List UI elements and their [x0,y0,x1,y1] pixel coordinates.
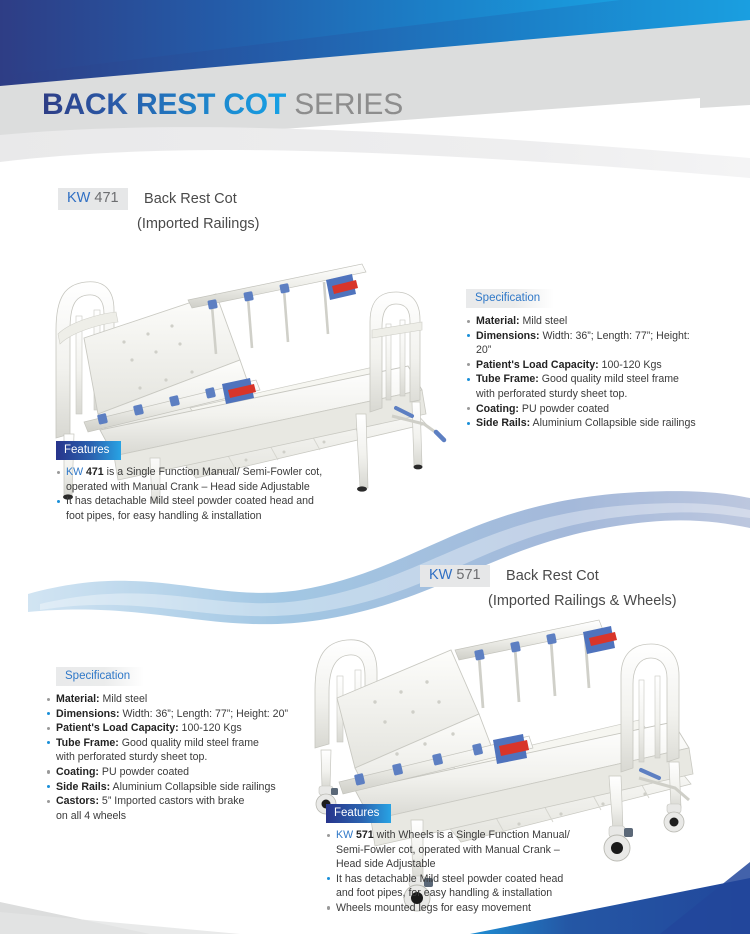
features-badge-kw571: Features [326,804,391,823]
spec-item-continuation: with perforated sturdy sheet top. [466,387,698,402]
product-subtitle-kw571: (Imported Railings & Wheels) [488,593,677,609]
product-name-kw571: Back Rest Cot [506,568,599,584]
page-title-main: BACK REST COT [42,88,286,121]
page-title: BACK REST COT SERIES [42,88,403,122]
product-code-badge-kw571: KW 571 [420,565,490,587]
features-list-kw571: KW 571 with Wheels is a Single Function … [326,828,616,916]
product-code-number: 571 [452,567,480,583]
feature-item-continuation: Head side Adjustable [326,857,616,872]
product-header-kw571: KW 571 Back Rest Cot (Imported Railings … [420,565,677,609]
features-list-kw471: KW 471 is a Single Function Manual/ Semi… [56,465,346,523]
spec-item-continuation: with perforated sturdy sheet top. [46,750,296,765]
rear-side-rail [455,620,617,708]
feature-item: It has detachable Mild steel powder coat… [326,872,616,887]
spec-list-kw471: Material: Mild steel Dimensions: Width: … [466,314,698,431]
feature-item-continuation: foot pipes, for easy handling & installa… [56,509,346,524]
spec-badge-kw471: Specification [466,289,554,308]
catalog-page: BACK REST COT SERIES KW 471 Back Rest Co… [0,0,750,934]
spec-item-continuation: on all 4 wheels [46,809,296,824]
spec-item: Dimensions: Width: 36”; Length: 77”; Hei… [46,707,296,722]
product-code-badge-kw471: KW 471 [58,188,128,210]
feature-item: KW 571 with Wheels is a Single Function … [326,828,616,843]
spec-item: Material: Mild steel [46,692,296,707]
page-title-suffix: SERIES [286,88,403,121]
spec-item: Patient's Load Capacity: 100-120 Kgs [46,721,296,736]
spec-list-kw571: Material: Mild steel Dimensions: Width: … [46,692,296,823]
product-image-kw471 [40,238,450,503]
spec-item: Side Rails: Aluminium Collapsible side r… [46,780,296,795]
product-header-kw471: KW 471 Back Rest Cot (Imported Railings) [58,188,260,232]
spec-badge-kw571: Specification [56,667,144,686]
feature-item: Wheels mounted legs for easy movement [326,901,616,916]
feature-item-continuation: Semi-Fowler cot, operated with Manual Cr… [326,843,616,858]
feature-item-continuation: operated with Manual Crank – Head side A… [56,480,346,495]
spec-item: Material: Mild steel [466,314,698,329]
product-code-number: 471 [90,190,118,206]
spec-item: Patient's Load Capacity: 100-120 Kgs [466,358,698,373]
product-name-kw471: Back Rest Cot [144,191,237,207]
castor-front-right [664,804,684,832]
spec-item: Tube Frame: Good quality mild steel fram… [46,736,296,751]
product-code-prefix: KW [67,190,90,206]
feature-item: It has detachable Mild steel powder coat… [56,494,346,509]
product-subtitle-kw471: (Imported Railings) [137,216,260,232]
spec-item: Side Rails: Aluminium Collapsible side r… [466,416,698,431]
spec-item: Tube Frame: Good quality mild steel fram… [466,372,698,387]
product-code-prefix: KW [429,567,452,583]
feature-item: KW 471 is a Single Function Manual/ Semi… [56,465,346,480]
feature-item-continuation: and foot pipes, for easy handling & inst… [326,886,616,901]
spec-item: Coating: PU powder coated [466,402,698,417]
spec-item: Castors: 5” Imported castors with brake [46,794,296,809]
spec-item: Coating: PU powder coated [46,765,296,780]
features-badge-kw471: Features [56,441,121,460]
spec-item: Dimensions: Width: 36”; Length: 77”; Hei… [466,329,698,358]
title-gray-curve [0,127,750,178]
